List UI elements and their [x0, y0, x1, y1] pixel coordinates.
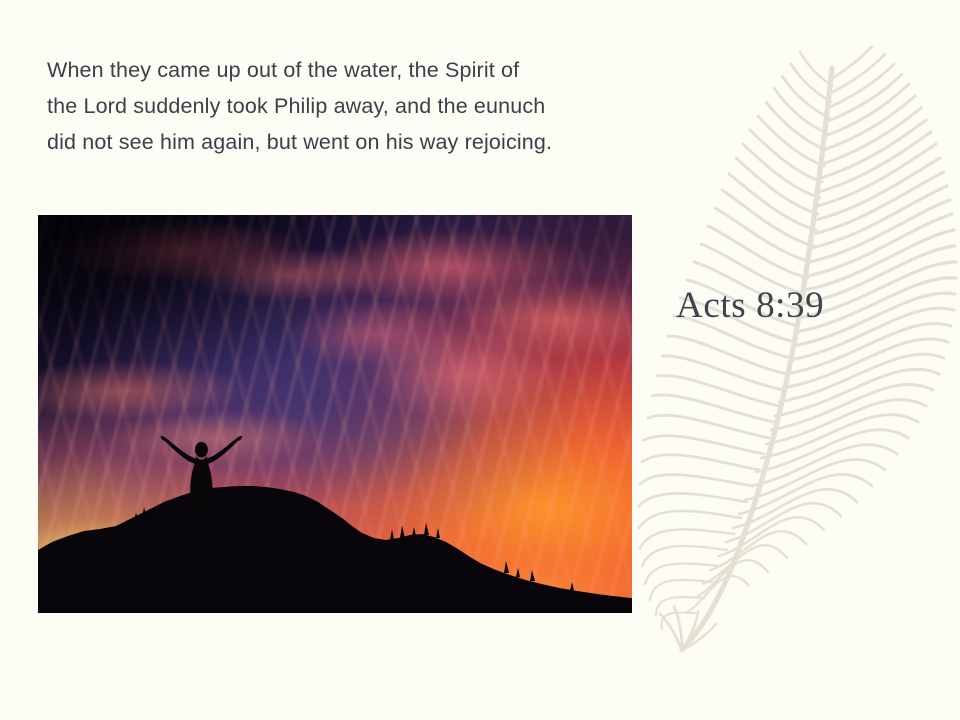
jumping-person-silhouette — [142, 430, 261, 545]
feather-base-tuft — [660, 606, 716, 650]
slide-canvas: When they came up out of the water, the … — [0, 0, 960, 720]
scripture-reference: Acts 8:39 — [676, 283, 824, 329]
sunset-photo — [38, 215, 632, 613]
verse-text: When they came up out of the water, the … — [47, 52, 647, 160]
feather-decoration — [636, 46, 960, 656]
hill-silhouette — [38, 215, 632, 613]
feather-rachis — [682, 68, 832, 650]
feather-barbs-left — [639, 52, 832, 630]
feather-barbs-right — [687, 46, 956, 612]
